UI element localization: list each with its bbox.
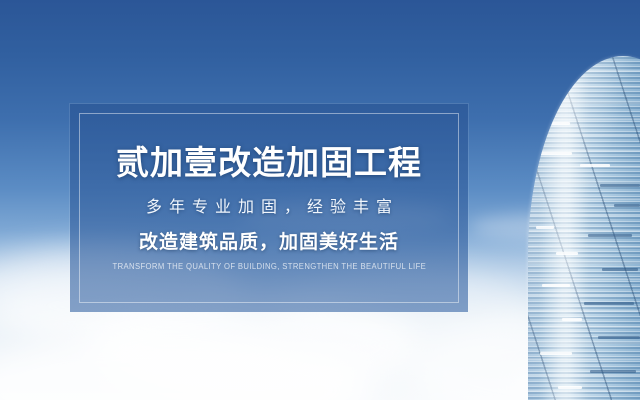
page-title: 贰加壹改造加固工程 [116,146,422,179]
panel-content: 贰加壹改造加固工程 多年专业加固，经验丰富 改造建筑品质，加固美好生活 TRAN… [70,104,468,312]
hero-banner: 贰加壹改造加固工程 多年专业加固，经验丰富 改造建筑品质，加固美好生活 TRAN… [0,0,640,400]
skyscraper-body [528,56,640,400]
skyscraper-photo [510,0,640,400]
tagline-english: TRANSFORM THE QUALITY OF BUILDING, STREN… [112,263,426,271]
text-panel: 贰加壹改造加固工程 多年专业加固，经验丰富 改造建筑品质，加固美好生活 TRAN… [70,104,468,312]
subtitle-chinese: 多年专业加固，经验丰富 [139,200,399,216]
tagline-chinese: 改造建筑品质，加固美好生活 [139,233,399,252]
